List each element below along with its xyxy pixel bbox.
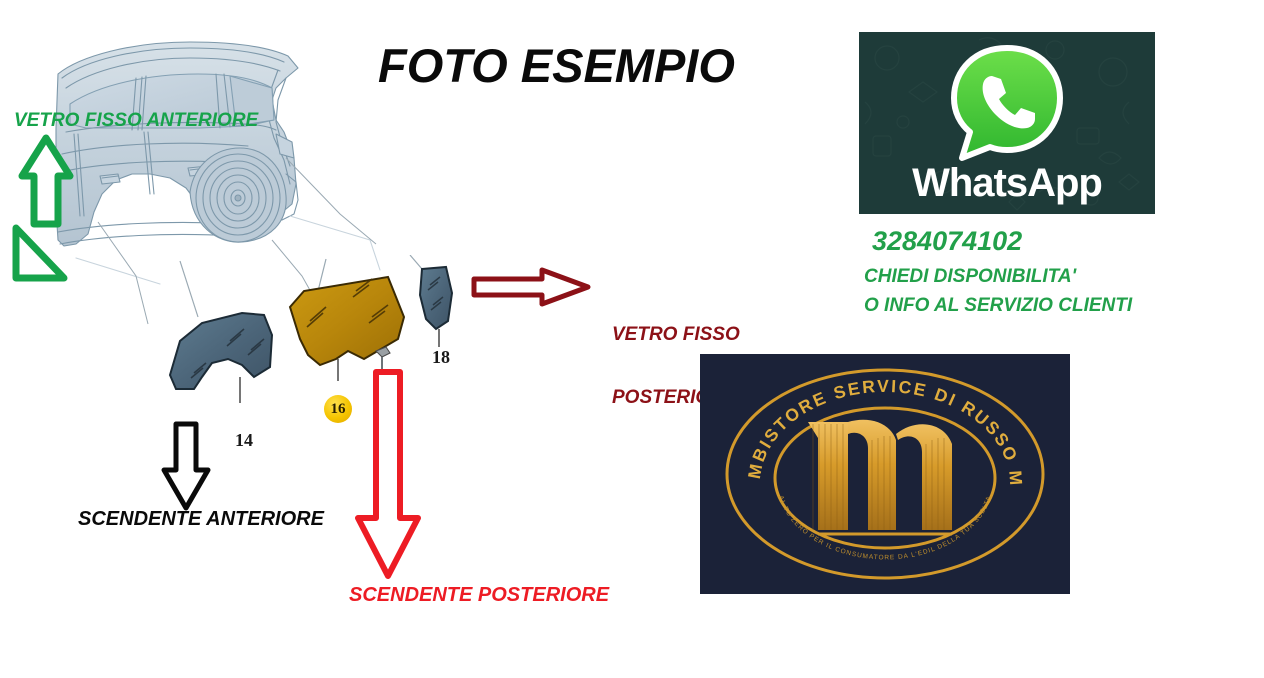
page-title: FOTO ESEMPIO xyxy=(378,38,735,93)
whatsapp-banner[interactable]: WhatsApp xyxy=(859,32,1155,214)
whatsapp-wordmark: WhatsApp xyxy=(859,161,1155,206)
whatsapp-phone-number[interactable]: 3284074102 xyxy=(872,226,1022,257)
shop-logo-image: MRICAMBISTORE SERVICE DI RUSSO MARCO AL … xyxy=(700,354,1070,594)
part-number-14: 14 xyxy=(235,430,253,451)
label-vetro-fisso-posteriore-line1: VETRO FISSO xyxy=(612,324,740,345)
whatsapp-logo-icon xyxy=(944,40,1070,166)
part-number-16-badge: 16 xyxy=(324,395,352,423)
shop-logo-monogram xyxy=(808,420,952,530)
label-vetro-fisso-anteriore: VETRO FISSO ANTERIORE xyxy=(14,110,258,131)
label-scendente-posteriore: SCENDENTE POSTERIORE xyxy=(349,584,609,606)
label-scendente-anteriore: SCENDENTE ANTERIORE xyxy=(78,508,324,530)
green-triangle-icon xyxy=(6,218,72,288)
contact-line-1: CHIEDI DISPONIBILITA' xyxy=(864,266,1076,288)
black-down-arrow-icon xyxy=(158,420,214,512)
poster-canvas: 14 16 17 18 FOTO ESEMPIO VETRO FISSO ANT… xyxy=(0,0,1264,678)
red-down-arrow-icon xyxy=(352,368,424,582)
darkred-right-arrow-icon xyxy=(470,266,594,308)
part-number-18: 18 xyxy=(432,347,450,368)
contact-line-2: O INFO AL SERVIZIO CLIENTI xyxy=(864,295,1132,317)
